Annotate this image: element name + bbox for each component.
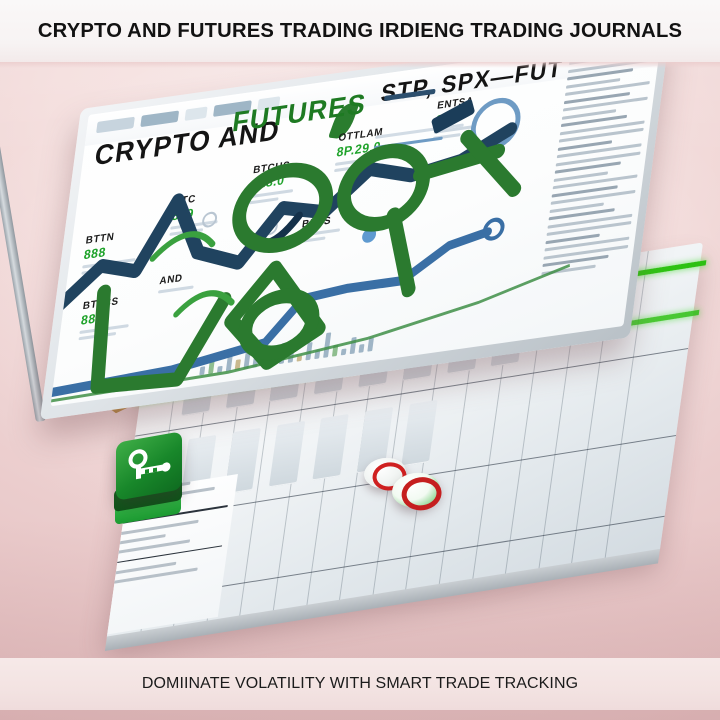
header-band: CRYPTO AND FUTURES TRADING IRDIENG TRADI…	[0, 0, 720, 62]
footer-band: DOMIINATE VOLATILITY WITH SMART TRADE TR…	[0, 658, 720, 710]
page-title: CRYPTO AND FUTURES TRADING IRDIENG TRADI…	[38, 19, 682, 43]
blue-endpoint	[484, 219, 504, 240]
header-band-edge	[0, 62, 720, 68]
navy-bar	[431, 98, 475, 134]
footer-caption: DOMIINATE VOLATILITY WITH SMART TRADE TR…	[142, 675, 578, 693]
laptop-device: CRYPTO AND FUTURES STP, SPX—FUT BTTN 888	[0, 0, 720, 720]
lid-edge	[0, 123, 46, 422]
poster-canvas: CRYPTO AND FUTURES TRADING IRDIENG TRADI…	[0, 0, 720, 720]
key-block[interactable]	[112, 437, 186, 521]
